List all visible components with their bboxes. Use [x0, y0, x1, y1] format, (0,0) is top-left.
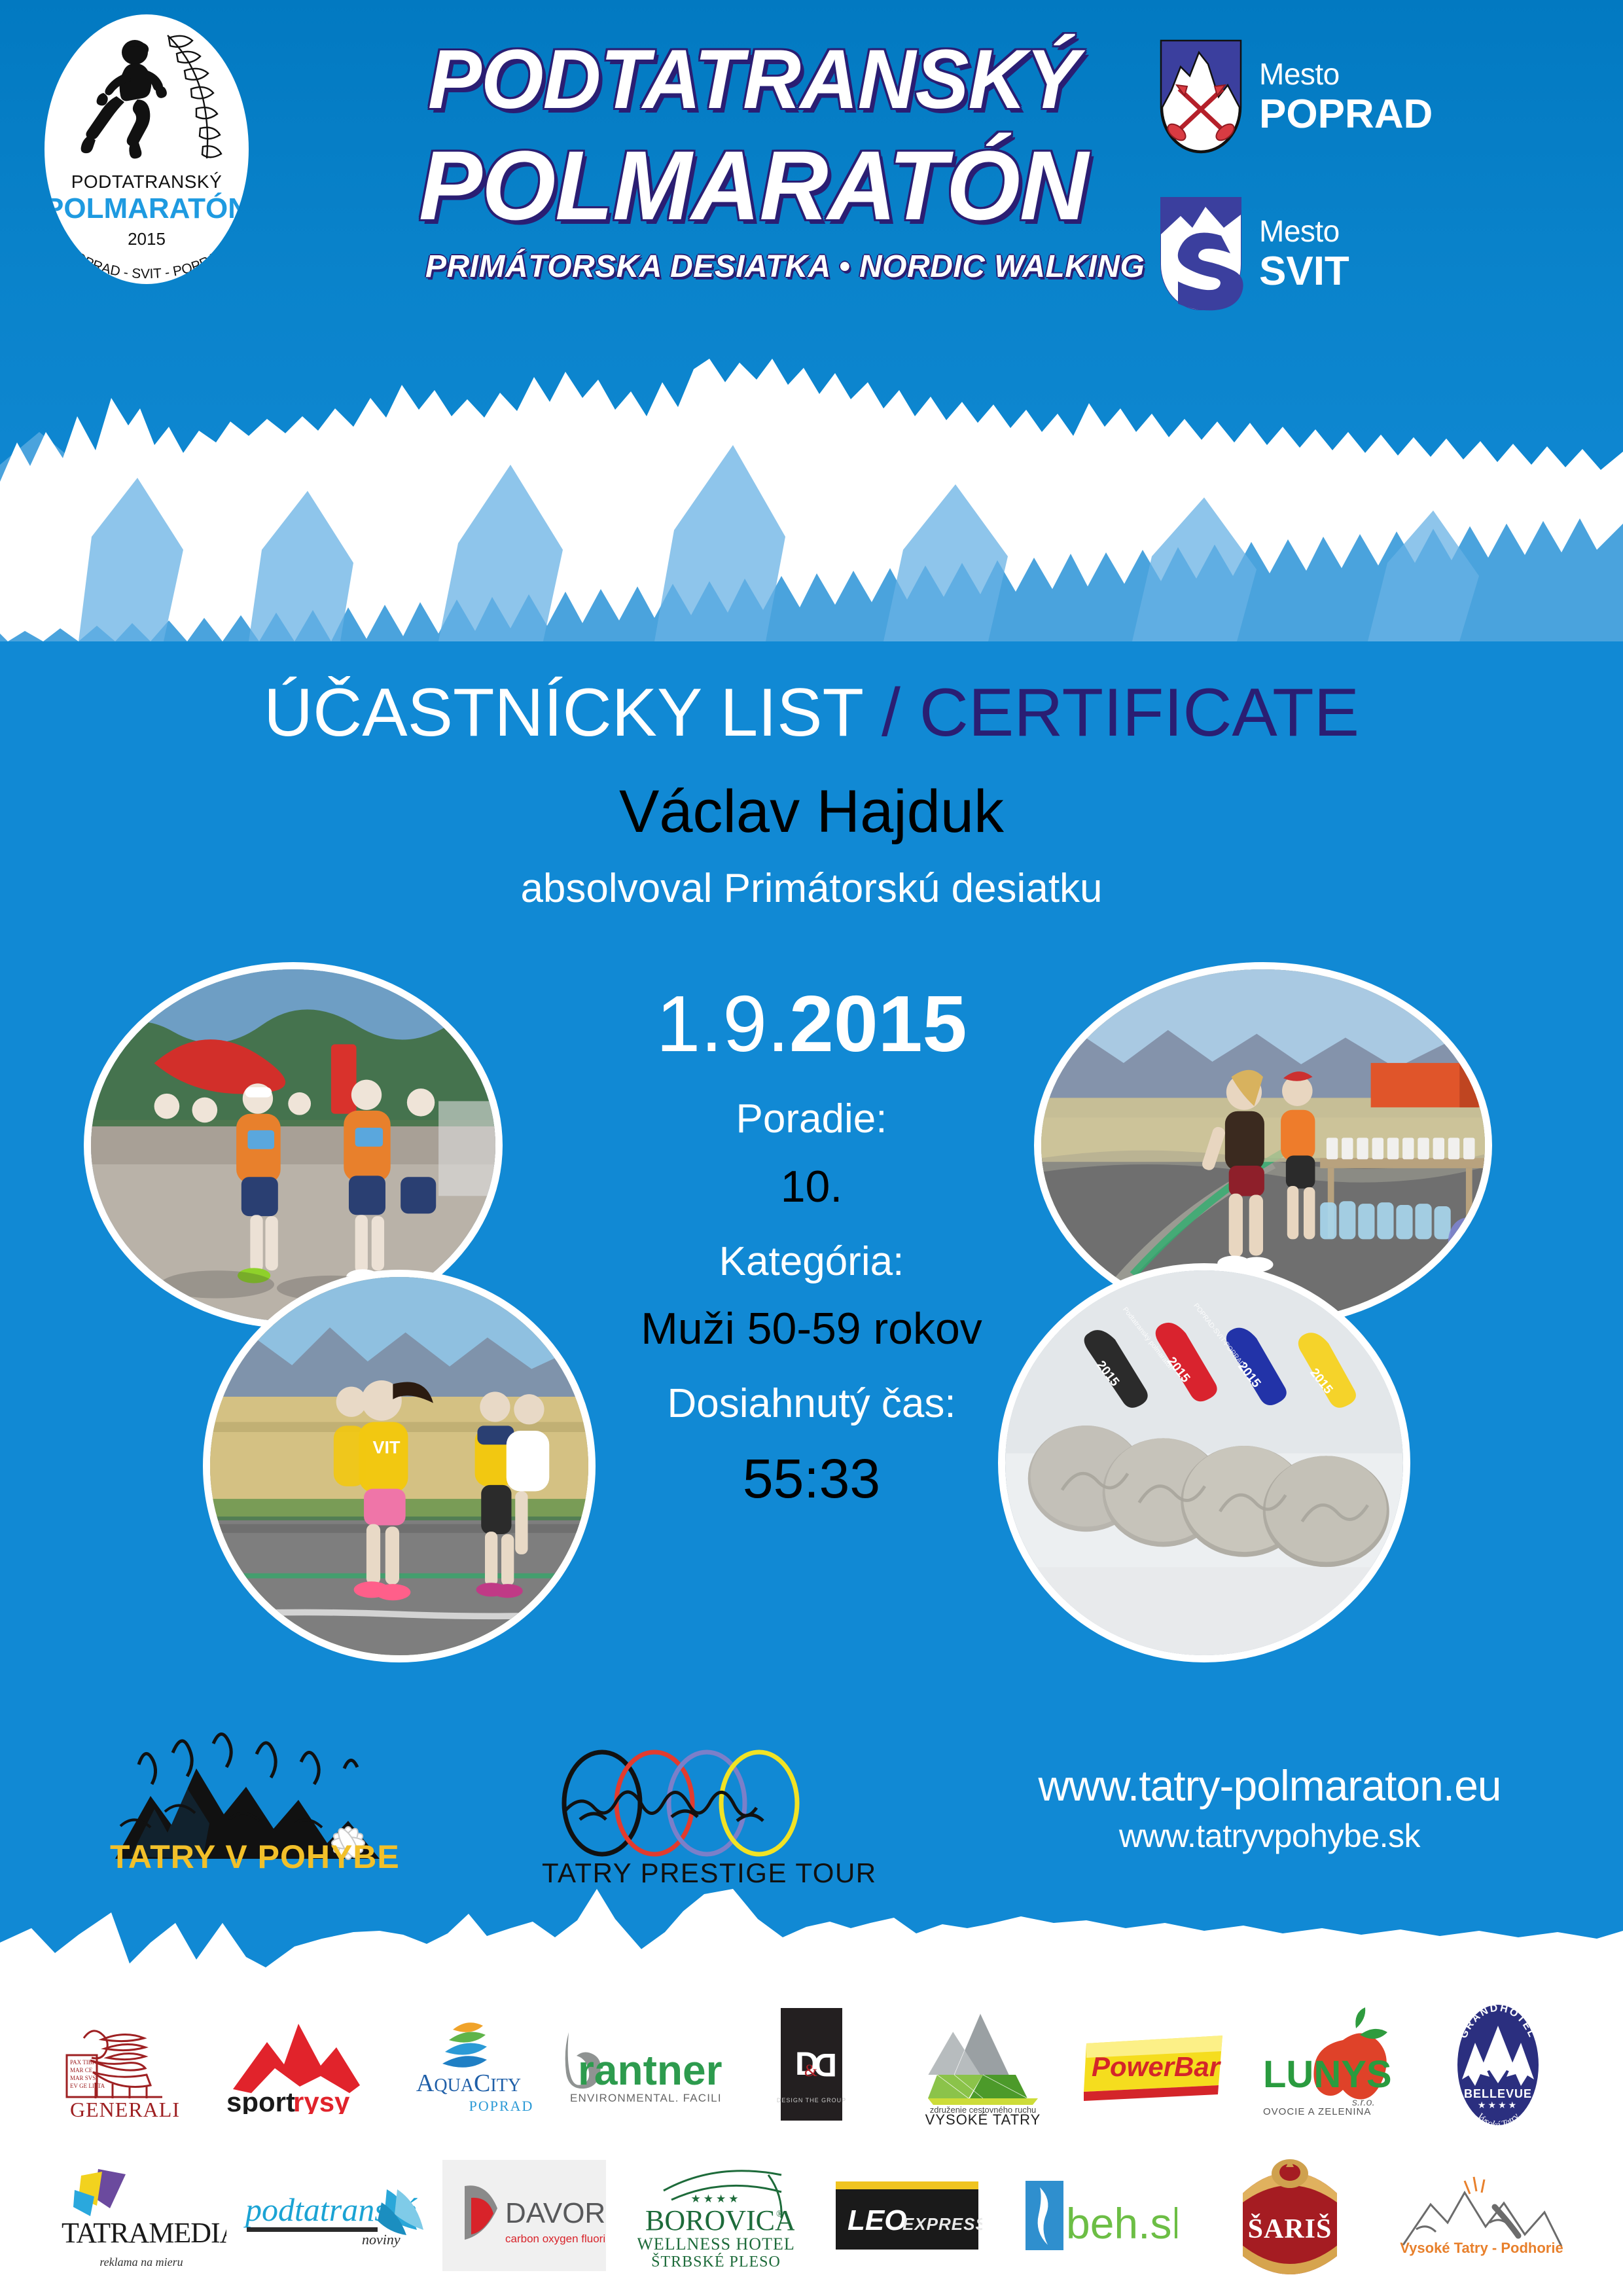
sponsor-saris: ŠARIŠ: [1194, 2147, 1386, 2284]
svg-text:VYSOKÉ TATRY: VYSOKÉ TATRY: [925, 2111, 1041, 2127]
url-secondary[interactable]: www.tatryvpohybe.sk: [955, 1817, 1584, 1855]
rank-label: Poradie:: [550, 1092, 1073, 1147]
svg-text:LUNYS: LUNYS: [1263, 2053, 1392, 2096]
sponsor-davorin: DAVORIN carbon oxygen fluorine: [429, 2147, 620, 2284]
laurel-wheat-icon: [156, 31, 241, 162]
vysoke-tatry-podhorie-logo-icon: Vysoké Tatry - Podhorie: [1397, 2166, 1567, 2265]
svg-text:®: ®: [776, 2209, 783, 2219]
svg-text:&: &: [804, 2061, 817, 2080]
wordmark-line1: PODTATRANSKÝ: [428, 38, 1079, 122]
davorin-logo-icon: DAVORIN carbon oxygen fluorine: [442, 2160, 606, 2271]
event-date-daymonth: 1.9.: [656, 979, 790, 1068]
bottom-wave-graphic: [0, 1865, 1623, 1996]
tatramedia-logo-icon: TATRAMEDIA reklama na mieru: [56, 2160, 226, 2271]
page-title-sk: ÚČASTNÍCKY LIST: [264, 675, 863, 751]
svg-text:reklama na mieru: reklama na mieru: [100, 2255, 183, 2269]
svg-text:Vysoké Tatry - Podhorie: Vysoké Tatry - Podhorie: [1400, 2240, 1563, 2256]
svg-text:WELLNESS HOTEL: WELLNESS HOTEL: [637, 2234, 794, 2253]
svg-text:EXPRESS: EXPRESS: [902, 2214, 982, 2234]
photo-runners-field-image: VIT: [210, 1277, 588, 1655]
athlete-subtitle: absolvoval Primátorskú desiatku: [0, 865, 1623, 912]
dd-logo-icon: D D & DESIGN THE GROUP: [769, 2003, 854, 2127]
sponsor-brantner: rantner ENVIRONMENTAL. FACILITY SERVICES: [554, 1990, 726, 2140]
svg-text:LEO: LEO: [847, 2204, 906, 2236]
wordmark-line2: POLMARATÓN: [419, 136, 1088, 234]
svg-text:DAVORIN: DAVORIN: [505, 2197, 606, 2229]
photo-runners-field: VIT: [203, 1270, 596, 1662]
svg-text:TATRAMEDIA: TATRAMEDIA: [62, 2217, 226, 2249]
poprad-coat-of-arms-icon: [1158, 39, 1243, 154]
event-date: 1.9.2015: [550, 982, 1073, 1066]
photo-medals: 2015 2015 2015 2015 Podtatranský polmara…: [998, 1263, 1410, 1662]
svg-text:VIT: VIT: [373, 1438, 401, 1458]
city-logo-svit: Mesto SVIT: [1158, 196, 1349, 311]
svg-text:★★★★: ★★★★: [690, 2193, 741, 2205]
svg-text:ENVIRONMENTAL. FACILITY SERVIC: ENVIRONMENTAL. FACILITY SERVICES: [570, 2092, 722, 2104]
svg-text:rantner: rantner: [578, 2047, 722, 2094]
leo-express-logo-icon: LEO EXPRESS: [832, 2176, 982, 2255]
certificate-page: PODTATRANSKÝ POLMARATÓN 2015 POPRAD - SV…: [0, 0, 1623, 2296]
photo-refreshment-station-image: [1041, 969, 1485, 1321]
footer-urls: www.tatry-polmaraton.eu www.tatryvpohybe…: [955, 1761, 1584, 1855]
city-name: SVIT: [1259, 251, 1349, 292]
sponsor-row-2: TATRAMEDIA reklama na mieru podtatranské…: [0, 2147, 1623, 2284]
svg-text:PAX TIBI: PAX TIBI: [70, 2059, 94, 2066]
page-title-separator: /: [863, 675, 919, 751]
svg-text:noviny: noviny: [362, 2231, 401, 2248]
time-label: Dosiahnutý čas:: [550, 1376, 1073, 1431]
sponsor-aquacity: AQUACITY POPRAD: [382, 1990, 554, 2140]
brantner-logo-icon: rantner ENVIRONMENTAL. FACILITY SERVICES: [558, 2019, 722, 2111]
svg-text:★★★★: ★★★★: [1478, 2100, 1518, 2110]
generali-logo-icon: PAX TIBIMAR CE MAR SVSEV GE LISTA GENERA…: [56, 2009, 194, 2121]
saris-logo-icon: ŠARIŠ: [1238, 2157, 1342, 2274]
sponsor-behsk: beh.sk: [1003, 2147, 1195, 2284]
svg-text:BOROVICA: BOROVICA: [645, 2204, 794, 2236]
svg-text:carbon oxygen fluorine: carbon oxygen fluorine: [505, 2233, 606, 2245]
city-logo-poprad: Mesto POPRAD: [1158, 39, 1433, 154]
sponsor-podtatranske-noviny: podtatranské noviny: [238, 2147, 429, 2284]
sponsor-powerbar: PowerBar: [1069, 1990, 1240, 2140]
sponsor-lunys: LUNYS s.r.o. OVOCIE A ZELENINA: [1241, 1990, 1412, 2140]
sponsor-grandhotel-bellevue: GRANDHOTEL BELLEVUE ★★★★ Vysoké Tatry: [1412, 1990, 1584, 2140]
time-value: 55:33: [550, 1442, 1073, 1516]
sponsor-area: PAX TIBIMAR CE MAR SVSEV GE LISTA GENERA…: [0, 1983, 1623, 2296]
svg-text:EV GE LISTA: EV GE LISTA: [70, 2083, 105, 2089]
results-panel: 1.9.2015 Poradie: 10. Kategória: Muži 50…: [550, 982, 1073, 1516]
aquacity-logo-icon: AQUACITY POPRAD: [397, 2013, 541, 2117]
grandhotel-bellevue-logo-icon: GRANDHOTEL BELLEVUE ★★★★ Vysoké Tatry: [1449, 2000, 1547, 2130]
emblem-line2: POLMARATÓN: [45, 192, 249, 225]
page-title: ÚČASTNÍCKY LIST / CERTIFICATE: [0, 674, 1623, 752]
emblem-arc-text: POPRAD - SVIT - POPRAD: [45, 245, 249, 284]
city-prefix: Mesto: [1259, 216, 1349, 246]
page-title-en: CERTIFICATE: [919, 675, 1359, 751]
svg-text:PowerBar: PowerBar: [1092, 2051, 1222, 2082]
event-emblem-badge: PODTATRANSKÝ POLMARATÓN 2015 POPRAD - SV…: [45, 14, 249, 284]
wordmark-line3: PRIMÁTORSKA DESIATKA • NORDIC WALKING: [425, 249, 1145, 285]
svg-text:sport: sport: [226, 2087, 295, 2114]
svit-coat-of-arms-icon: [1158, 196, 1243, 311]
category-label: Kategória:: [550, 1234, 1073, 1289]
header: PODTATRANSKÝ POLMARATÓN 2015 POPRAD - SV…: [0, 0, 1623, 367]
svg-text:rysy: rysy: [293, 2087, 350, 2114]
vysoke-tatry-logo-icon: združenie cestovného ruchu VYSOKÉ TATRY: [918, 2003, 1048, 2127]
url-primary[interactable]: www.tatry-polmaraton.eu: [955, 1761, 1584, 1810]
borovica-logo-icon: ★★★★ BOROVICA ® WELLNESS HOTEL ŠTRBSKÉ P…: [637, 2157, 794, 2274]
svg-text:GENERALI: GENERALI: [70, 2098, 180, 2121]
svg-text:BELLEVUE: BELLEVUE: [1464, 2087, 1532, 2100]
svg-text:AQUACITY: AQUACITY: [416, 2070, 520, 2097]
behsk-logo-icon: beh.sk: [1020, 2173, 1177, 2258]
sponsor-borovica: ★★★★ BOROVICA ® WELLNESS HOTEL ŠTRBSKÉ P…: [620, 2147, 812, 2284]
sponsor-sportrysy: sport rysy: [211, 1990, 382, 2140]
athlete-name: Václav Hajduk: [0, 778, 1623, 846]
photo-medals-image: 2015 2015 2015 2015 Podtatranský polmara…: [1005, 1270, 1403, 1655]
emblem-line1: PODTATRANSKÝ: [45, 171, 249, 192]
svg-text:POPRAD: POPRAD: [469, 2098, 533, 2114]
sponsor-leo-express: LEO EXPRESS: [811, 2147, 1003, 2284]
city-prefix: Mesto: [1259, 59, 1433, 89]
rank-value: 10.: [550, 1157, 1073, 1217]
sponsor-row-1: PAX TIBIMAR CE MAR SVSEV GE LISTA GENERA…: [0, 1990, 1623, 2140]
svg-text:beh.sk: beh.sk: [1066, 2199, 1177, 2248]
city-name: POPRAD: [1259, 94, 1433, 135]
svg-text:MAR CE: MAR CE: [70, 2067, 93, 2073]
sponsor-tatramedia: TATRAMEDIA reklama na mieru: [46, 2147, 238, 2284]
category-value: Muži 50-59 rokov: [550, 1299, 1073, 1359]
powerbar-logo-icon: PowerBar: [1082, 2029, 1226, 2101]
svg-text:ŠTRBSKÉ PLESO: ŠTRBSKÉ PLESO: [651, 2253, 781, 2270]
sponsor-vysoke-tatry: združenie cestovného ruchu VYSOKÉ TATRY: [897, 1990, 1069, 2140]
sponsor-vysoke-tatry-podhorie: Vysoké Tatry - Podhorie: [1386, 2147, 1578, 2284]
sponsor-dd: D D & DESIGN THE GROUP: [726, 1990, 897, 2140]
sportrysy-logo-icon: sport rysy: [221, 2016, 372, 2114]
mountain-band-graphic: [0, 353, 1623, 641]
photo-race-start-image: [91, 969, 495, 1321]
svg-text:OVOCIE A ZELENINA: OVOCIE A ZELENINA: [1263, 2106, 1371, 2117]
sponsor-generali: PAX TIBIMAR CE MAR SVSEV GE LISTA GENERA…: [39, 1990, 211, 2140]
event-wordmark: PODTATRANSKÝ POLMARATÓN PRIMÁTORSKA DESI…: [419, 31, 1126, 306]
podtatranske-noviny-logo-icon: podtatranské noviny: [241, 2170, 425, 2261]
svg-text:MAR SVS: MAR SVS: [70, 2075, 96, 2081]
svg-text:DESIGN THE GROUP: DESIGN THE GROUP: [777, 2097, 846, 2104]
lunys-logo-icon: LUNYS s.r.o. OVOCIE A ZELENINA: [1258, 2006, 1395, 2124]
tatry-prestige-tour-logo: [550, 1741, 811, 1865]
svg-text:ŠARIŠ: ŠARIŠ: [1248, 2213, 1332, 2244]
svg-text:POPRAD - SVIT - POPRAD: POPRAD - SVIT - POPRAD: [64, 245, 229, 281]
event-date-year: 2015: [789, 979, 967, 1068]
